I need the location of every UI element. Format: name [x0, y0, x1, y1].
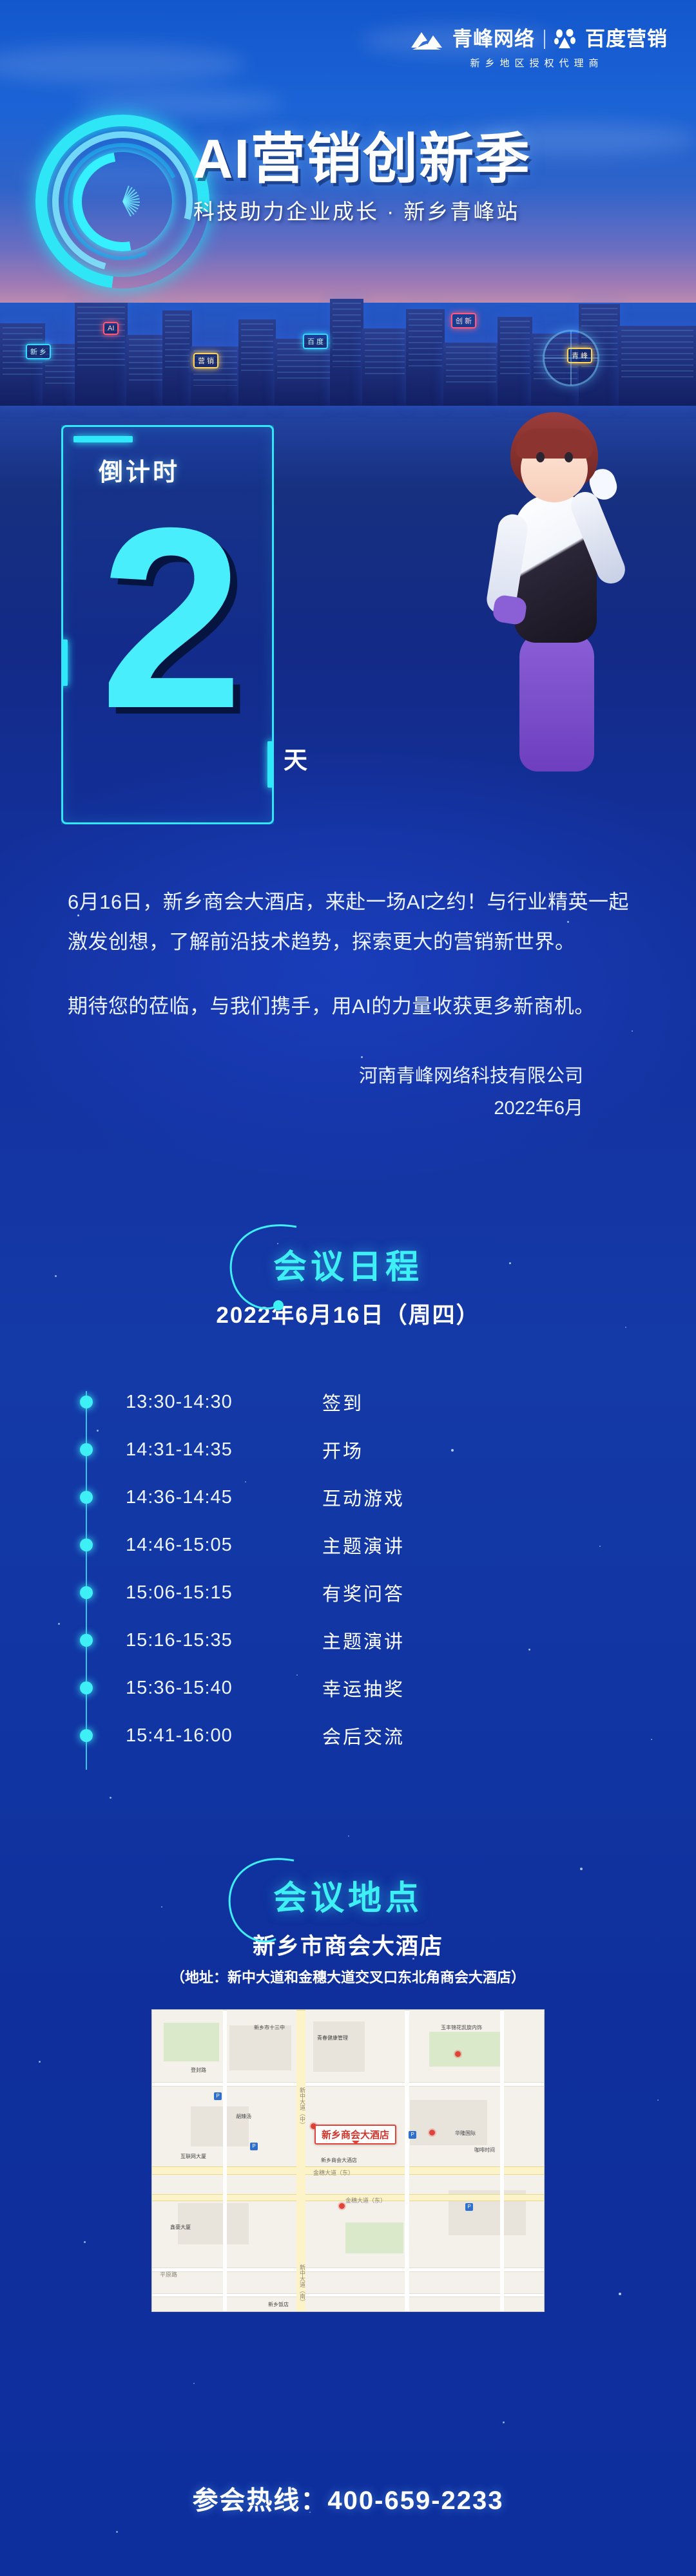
brand-primary-label: 青峰网络	[452, 28, 535, 50]
schedule-timeline: 13:30-14:30 签到 14:31-14:35 开场 14:36-14:4…	[0, 1378, 696, 1759]
schedule-row: 15:41-16:00 会后交流	[0, 1712, 696, 1759]
schedule-row: 13:30-14:30 签到	[0, 1378, 696, 1426]
map-road-label: 平原路	[160, 2270, 177, 2278]
countdown-number: 2	[100, 477, 293, 760]
venue-heading-block: 会议地点 新乡市商会大酒店 （地址：新中大道和金穗大道交叉口东北角商会大酒店）	[0, 1871, 696, 1987]
timeline-dot-icon	[80, 1729, 93, 1742]
map-poi-label: 咖啡时间	[474, 2146, 495, 2154]
schedule-time: 14:31-14:35	[126, 1439, 233, 1461]
schedule-time: 15:06-15:15	[126, 1582, 233, 1604]
schedule-date: 2022年6月16日（周四）	[0, 1297, 696, 1330]
schedule-row: 14:46-15:05 主题演讲	[0, 1521, 696, 1569]
venue-map[interactable]: 新中大道（中） 金穗大道（东） 金穗大道（东） 新中大道（南） 平原路 青春健康…	[151, 2009, 545, 2312]
schedule-time: 14:46-15:05	[126, 1535, 233, 1556]
hero-section: AI营销创新季 科技助力企业成长 · 新乡青峰站	[0, 97, 696, 328]
vertical-divider-icon	[544, 30, 545, 49]
timeline-dot-icon	[80, 1443, 93, 1456]
schedule-time: 13:30-14:30	[126, 1392, 233, 1413]
map-poi-label: 青春健康管理	[317, 2034, 348, 2041]
tech-ring-icon	[35, 115, 209, 289]
ferris-wheel-icon	[543, 330, 599, 386]
schedule-time: 14:36-14:45	[126, 1487, 233, 1508]
parking-marker-icon: P	[465, 2203, 473, 2211]
timeline-dot-icon	[80, 1586, 93, 1599]
copy-paragraph-1: 6月16日，新乡商会大酒店，来赴一场AI之约！与行业精英一起激发创想，了解前沿技…	[68, 882, 635, 962]
schedule-time: 15:41-16:00	[126, 1725, 233, 1747]
brand-row: 青峰网络 百度营销	[410, 28, 668, 50]
signature-company: 河南青峰网络科技有限公司	[68, 1060, 583, 1092]
schedule-row: 15:16-15:35 主题演讲	[0, 1616, 696, 1664]
signature-block: 河南青峰网络科技有限公司 2022年6月	[68, 1060, 635, 1124]
parking-marker-icon: P	[214, 2092, 222, 2100]
venue-name: 新乡市商会大酒店	[0, 1928, 696, 1961]
map-poi-label: 华隆国际	[455, 2130, 476, 2137]
schedule-row: 14:31-14:35 开场	[0, 1426, 696, 1473]
signature-date: 2022年6月	[68, 1092, 583, 1124]
map-poi-label: 新乡市十三中	[254, 2024, 285, 2031]
invitation-copy: 6月16日，新乡商会大酒店，来赴一场AI之约！与行业精英一起激发创想，了解前沿技…	[68, 882, 635, 1124]
schedule-time: 15:16-15:35	[126, 1630, 233, 1651]
page-title: AI营销创新季	[193, 130, 670, 189]
map-poi-label: 新乡商会大酒店	[321, 2157, 357, 2164]
schedule-item-name: 签到	[322, 1388, 363, 1416]
hotline-text: 参会热线：400-659-2233	[0, 2479, 696, 2517]
schedule-row: 15:06-15:15 有奖问答	[0, 1569, 696, 1616]
timeline-dot-icon	[80, 1634, 93, 1647]
timeline-dot-icon	[80, 1491, 93, 1504]
map-road-label: 金穗大道（东）	[313, 2168, 354, 2177]
hero-title-block: AI营销创新季 科技助力企业成长 · 新乡青峰站	[193, 130, 670, 225]
map-poi-label: 玉丰锦花凯旋内饰	[441, 2024, 482, 2031]
authorized-agent-label: 新乡地区授权代理商	[410, 56, 668, 70]
parking-marker-icon: P	[250, 2143, 258, 2150]
countdown-unit: 天	[284, 741, 309, 775]
copy-paragraph-2: 期待您的莅临，与我们携手，用AI的力量收获更多新商机。	[68, 987, 635, 1027]
parking-marker-icon: P	[409, 2131, 416, 2139]
mountain-peak-icon	[410, 28, 443, 50]
countdown-panel: 倒计时 2	[61, 425, 274, 824]
map-venue-callout: 新乡商会大酒店	[314, 2125, 396, 2145]
map-poi-label: 胡辣汤	[236, 2113, 251, 2120]
swirl-accent-icon	[219, 1854, 329, 1951]
brand-bar: 青峰网络 百度营销 新乡地区授权代理商	[410, 28, 668, 70]
schedule-item-name: 会后交流	[322, 1722, 405, 1749]
map-road-label: 新中大道（中）	[298, 2087, 306, 2128]
venue-address: （地址：新中大道和金穗大道交叉口东北角商会大酒店）	[0, 1966, 696, 1987]
poster-canvas: 青峰网络 百度营销 新乡地区授权代理商	[0, 0, 696, 2576]
map-poi-label: 互联网大厦	[180, 2153, 206, 2160]
map-road-label: 金穗大道（东）	[345, 2196, 386, 2204]
ai-girl-mascot-icon	[458, 412, 651, 773]
timeline-dot-icon	[80, 1681, 93, 1694]
schedule-item-name: 幸运抽奖	[322, 1674, 405, 1701]
schedule-heading-block: 会议日程 2022年6月16日（周四）	[0, 1240, 696, 1330]
schedule-item-name: 主题演讲	[322, 1627, 405, 1654]
schedule-item-name: 有奖问答	[322, 1579, 405, 1606]
schedule-item-name: 主题演讲	[322, 1531, 405, 1558]
schedule-item-name: 开场	[322, 1436, 363, 1463]
map-poi-label: 鑫豪大厦	[170, 2224, 191, 2231]
baidu-paw-icon	[554, 29, 576, 50]
brand-secondary-label: 百度营销	[585, 28, 668, 50]
map-poi-label: 登封路	[191, 2067, 206, 2074]
map-pin-icon	[339, 2203, 345, 2209]
map-pin-icon	[429, 2130, 435, 2136]
page-subtitle: 科技助力企业成长 · 新乡青峰站	[193, 194, 670, 225]
schedule-row: 14:36-14:45 互动游戏	[0, 1473, 696, 1521]
schedule-row: 15:36-15:40 幸运抽奖	[0, 1664, 696, 1712]
map-poi-label: 新乡饭店	[268, 2301, 289, 2308]
swirl-accent-icon	[219, 1223, 329, 1320]
schedule-item-name: 互动游戏	[322, 1484, 405, 1511]
timeline-dot-icon	[80, 1539, 93, 1551]
timeline-dot-icon	[80, 1396, 93, 1408]
schedule-time: 15:36-15:40	[126, 1678, 233, 1699]
map-road-label: 新中大道（南）	[298, 2264, 306, 2305]
map-pin-icon	[455, 2051, 461, 2057]
